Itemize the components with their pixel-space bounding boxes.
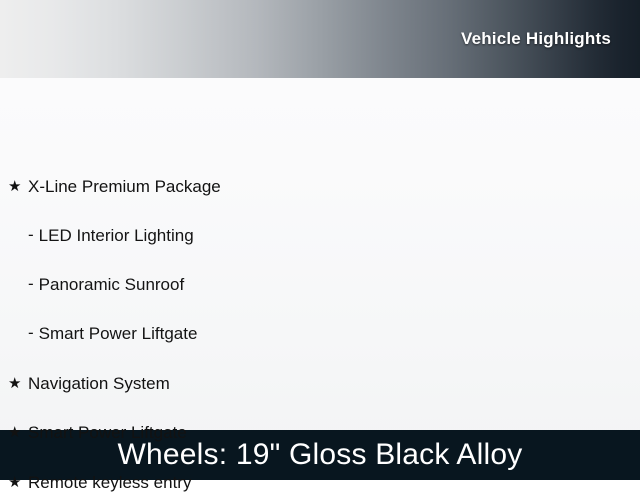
star-icon: ★ [8,179,28,194]
feature-list: ★ X-Line Premium Package - LED Interior … [0,78,640,430]
feature-label: X-Line Premium Package [28,178,221,195]
dash-icon: - [28,225,34,245]
list-item: ★ Navigation System [0,371,640,395]
list-item: ★ Smart Power Liftgate [0,420,640,444]
feature-label: Smart Power Liftgate [28,424,187,441]
list-item: - LED Interior Lighting [0,223,640,247]
star-icon: ★ [8,425,28,440]
list-item: ★ Remote keyless entry [0,470,640,494]
feature-label: Navigation System [28,375,170,392]
list-item: - Panoramic Sunroof [0,272,640,296]
feature-label: LED Interior Lighting [39,227,194,244]
star-icon: ★ [8,475,28,490]
footer-title: Wheels: 19" Gloss Black Alloy [118,440,523,470]
dash-icon: - [28,274,34,294]
feature-label: Smart Power Liftgate [39,325,198,342]
dash-icon: - [28,323,34,343]
header-banner: Vehicle Highlights [0,0,640,78]
star-icon: ★ [8,376,28,391]
feature-label: Remote keyless entry [28,474,191,491]
page-title: Vehicle Highlights [461,29,640,49]
vehicle-highlights-slide: Vehicle Highlights ★ X-Line Premium Pack… [0,0,640,480]
list-item: - Smart Power Liftgate [0,321,640,345]
feature-label: Panoramic Sunroof [39,276,185,293]
list-item: ★ X-Line Premium Package [0,174,640,198]
